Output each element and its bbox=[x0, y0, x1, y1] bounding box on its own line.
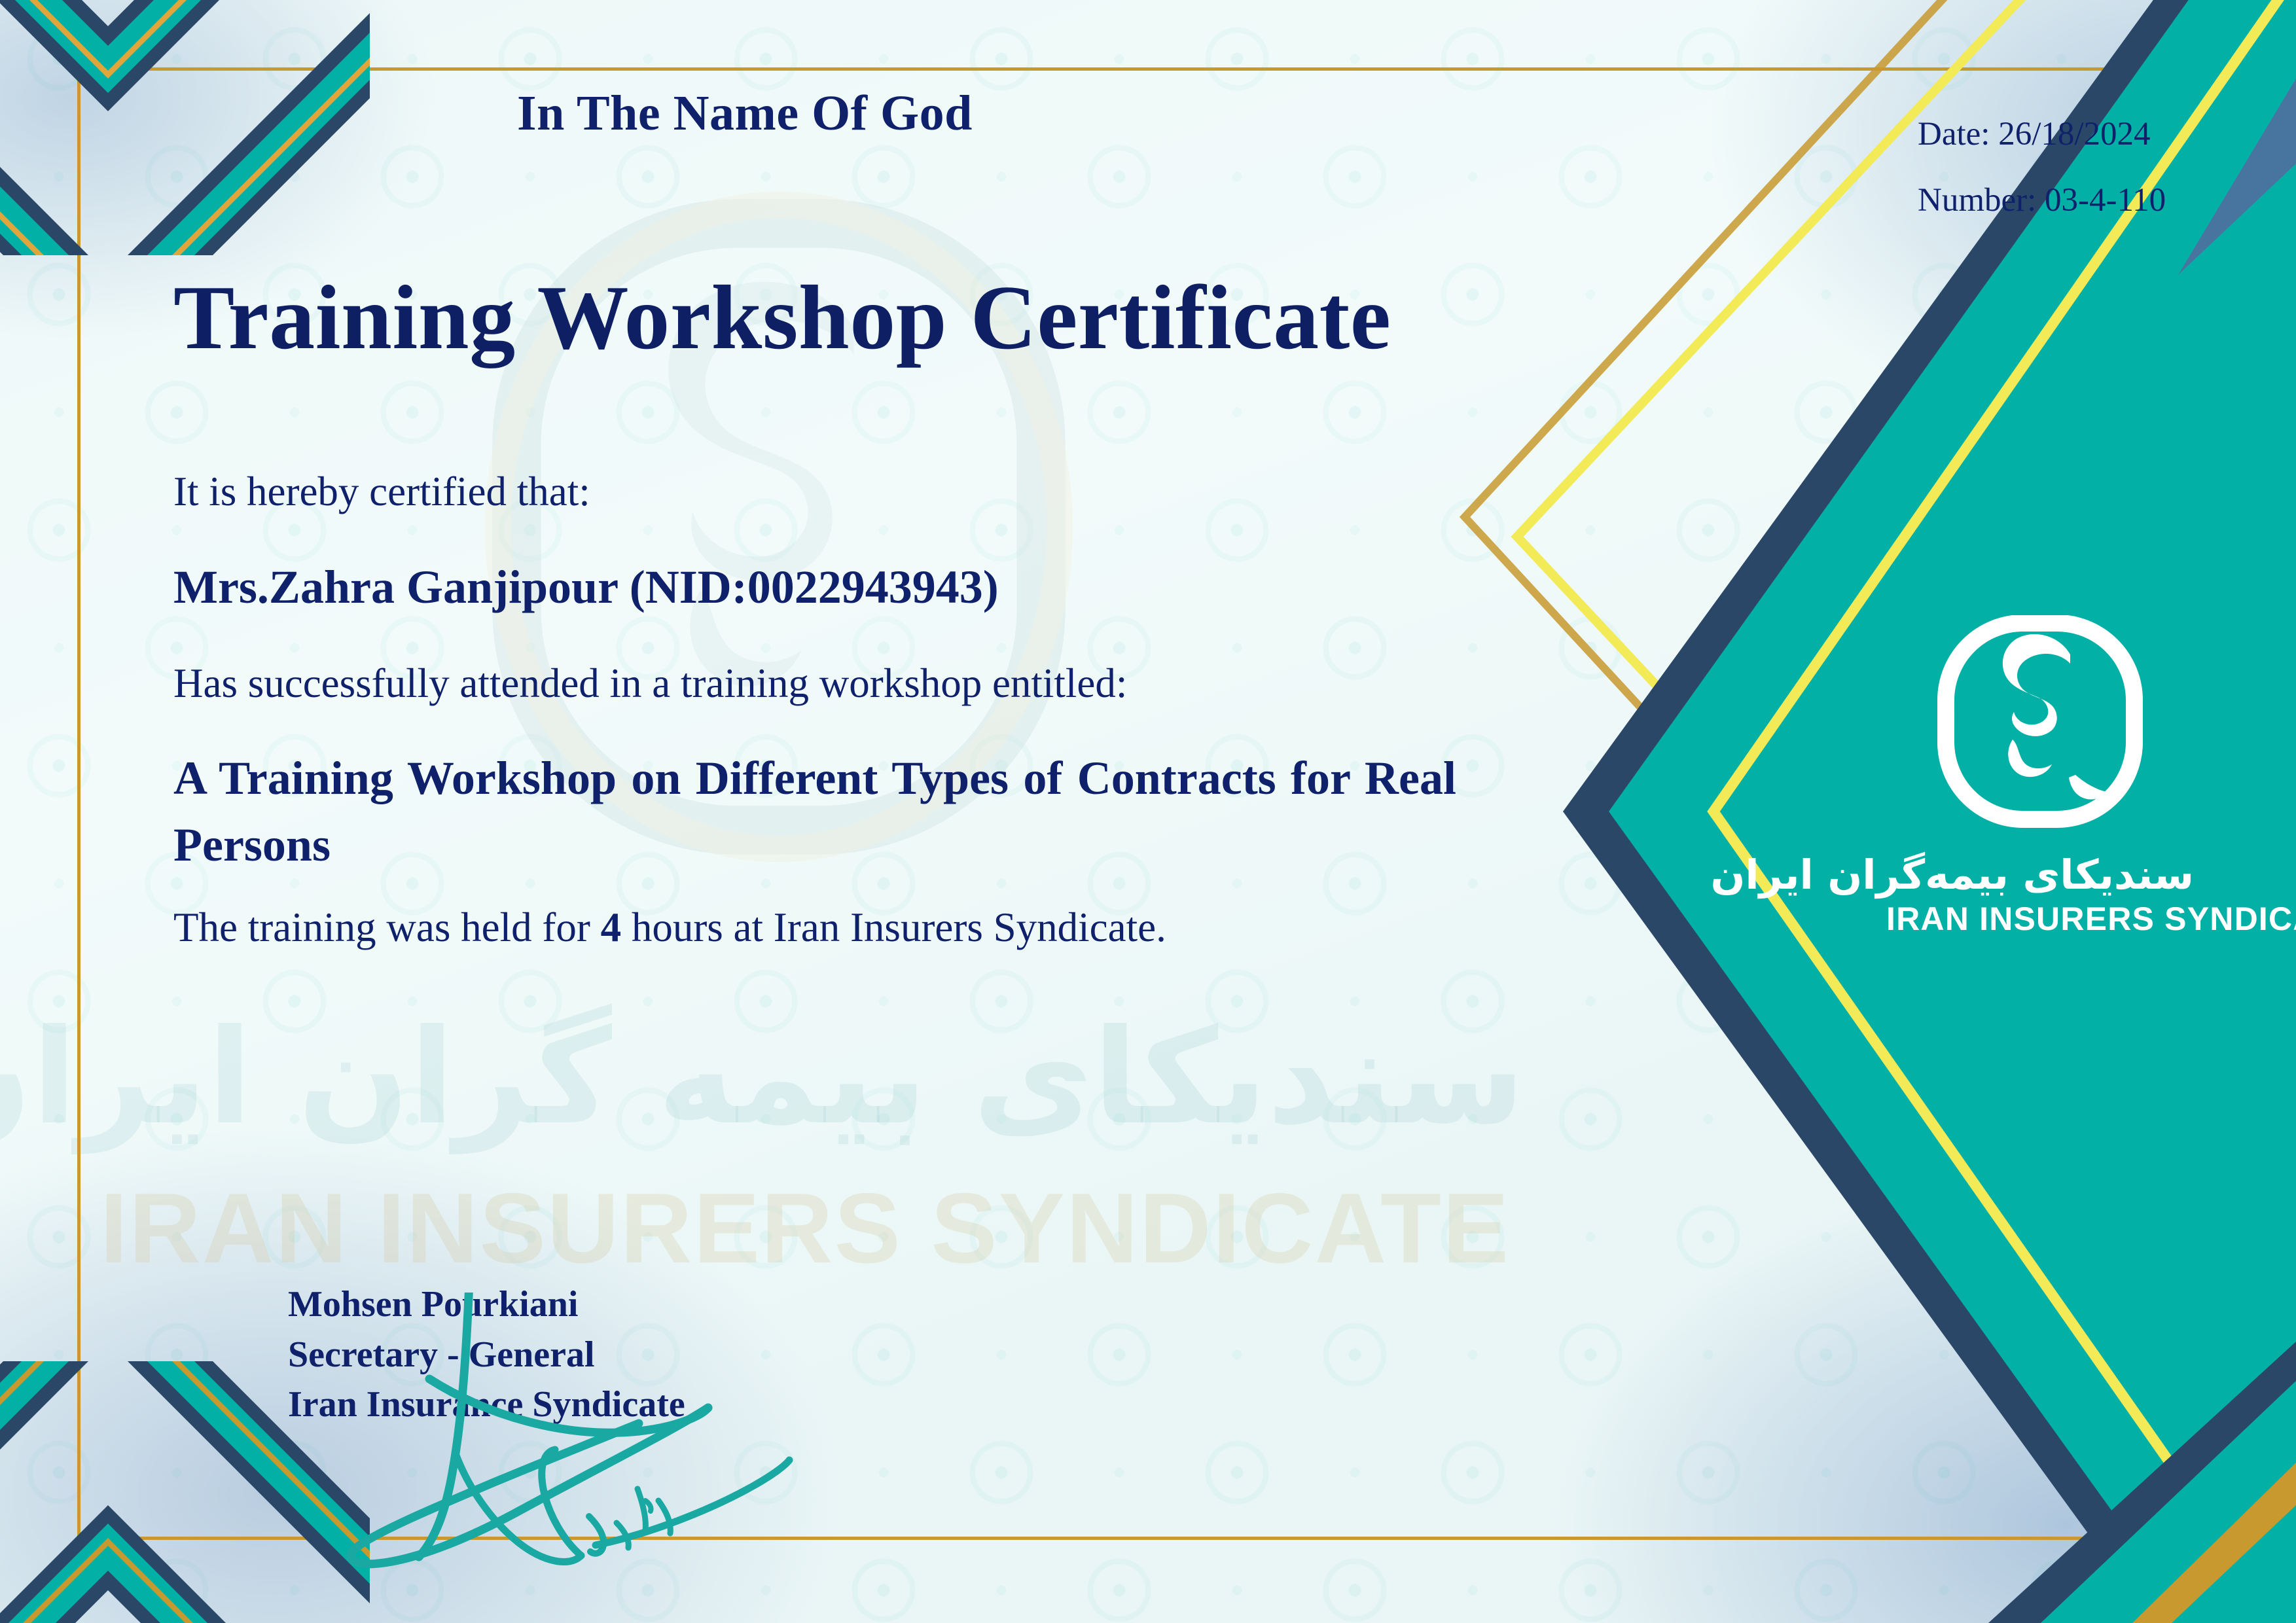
page-title: Training Workshop Certificate bbox=[173, 265, 1391, 370]
certificate-page: سندیکای بیمه گران ایران IRAN INSURERS SY… bbox=[0, 0, 2296, 1623]
recipient-name: Mrs.Zahra Ganjipour (NID:0022943943) bbox=[173, 563, 1469, 611]
duration-prefix: The training was held for bbox=[173, 904, 601, 950]
certified-line: It is hereby certified that: bbox=[173, 471, 1469, 512]
logo-english-name: IRAN INSURERS SYNDICATE bbox=[1886, 900, 2194, 938]
certificate-number: Number: 03-4-110 bbox=[1918, 184, 2166, 217]
syndicate-logo: سندیکای بیمه‌گران ایران IRAN INSURERS SY… bbox=[1886, 615, 2194, 938]
duration-line: The training was held for 4 hours at Ira… bbox=[173, 907, 1469, 948]
watermark-persian: سندیکای بیمه گران ایران bbox=[85, 1001, 1525, 1154]
course-title-text: A Training Workshop on Different Types o… bbox=[173, 752, 1456, 871]
certificate-meta: Date: 26/18/2024 Number: 03-4-110 bbox=[1918, 118, 2166, 217]
bismillah-heading: In The Name Of God bbox=[517, 85, 973, 142]
duration-suffix: hours at Iran Insurers Syndicate. bbox=[621, 904, 1166, 950]
logo-persian-name: سندیکای بیمه‌گران ایران bbox=[1886, 853, 2194, 896]
corner-ornament-top-left bbox=[0, 0, 370, 255]
watermark-english: IRAN INSURERS SYNDICATE bbox=[85, 1171, 1525, 1286]
certificate-body: It is hereby certified that: Mrs.Zahra G… bbox=[173, 471, 1469, 948]
handwritten-signature bbox=[308, 1293, 851, 1574]
course-title: A Training Workshop on Different Types o… bbox=[173, 745, 1456, 878]
attended-line: Has successfully attended in a training … bbox=[173, 663, 1469, 704]
certificate-date: Date: 26/18/2024 bbox=[1918, 116, 2151, 152]
duration-hours: 4 bbox=[601, 904, 622, 950]
syndicate-logo-icon bbox=[1935, 615, 2145, 831]
frame-line-left bbox=[77, 67, 81, 1540]
